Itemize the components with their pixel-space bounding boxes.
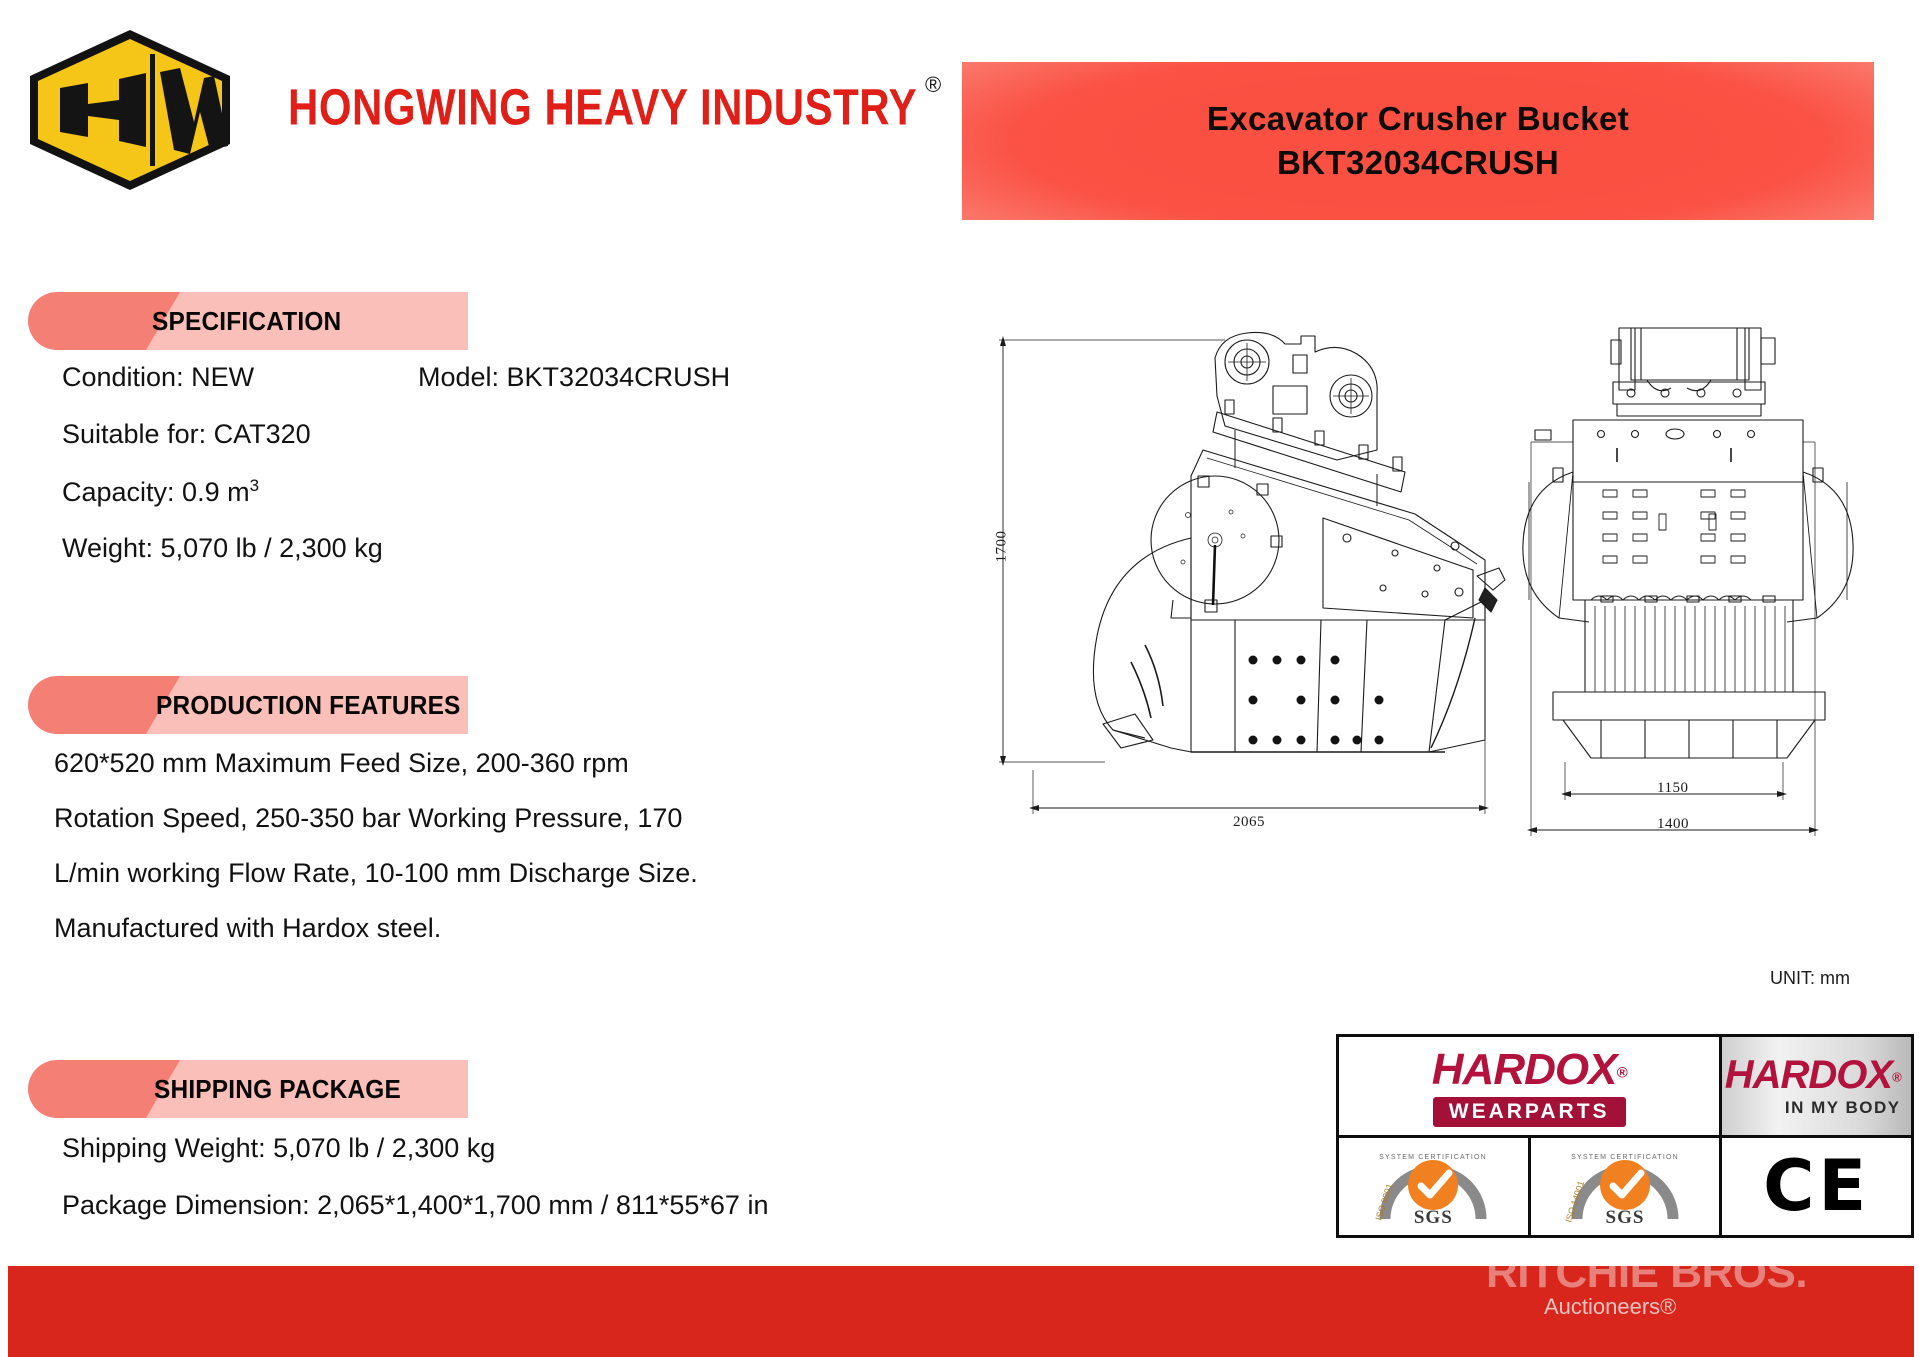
sgs-label: SGS [1557, 1207, 1693, 1229]
hardox-in-my-body-subtitle: IN MY BODY [1785, 1098, 1901, 1118]
section-title-shipping-package: SHIPPING PACKAGE [154, 1074, 401, 1105]
hardox-registered-icon: ® [1616, 1064, 1626, 1081]
dimension-width-2065: 2065 [1233, 814, 1265, 831]
section-tab-specification: SPECIFICATION [28, 292, 468, 350]
sgs-iso14001-badge: SYSTEM CERTIFICATION ISO 14001 SGS [1531, 1138, 1720, 1236]
hardox-wordmark: HARDOX [1432, 1045, 1617, 1094]
product-title-banner: Excavator Crusher Bucket BKT32034CRUSH [962, 62, 1874, 220]
dimension-outer-width-1400: 1400 [1657, 816, 1689, 833]
feature-line-1: 620*520 mm Maximum Feed Size, 200-360 rp… [54, 748, 629, 779]
ce-mark-glyph: CE [1763, 1151, 1870, 1221]
hardox-registered-icon: ® [1892, 1070, 1901, 1085]
spec-capacity-text: Capacity: 0.9 m [62, 477, 250, 507]
footer-bar [8, 1266, 1914, 1357]
spec-weight: Weight: 5,070 lb / 2,300 kg [62, 533, 383, 564]
section-tab-production-features: PRODUCTION FEATURES [28, 676, 468, 734]
feature-line-2: Rotation Speed, 250-350 bar Working Pres… [54, 803, 682, 834]
spec-condition: Condition: NEW [62, 362, 254, 393]
hardox-wearparts-subtitle: WEARPARTS [1433, 1097, 1626, 1127]
registered-trademark-icon: ® [925, 72, 941, 98]
spec-model: Model: BKT32034CRUSH [418, 362, 730, 393]
side-view-drawing [985, 300, 1545, 920]
dimension-height-1700: 1700 [994, 522, 1011, 572]
unit-note: UNIT: mm [1770, 968, 1850, 989]
ce-mark-badge: CE [1722, 1138, 1911, 1236]
spec-capacity: Capacity: 0.9 m3 [62, 476, 259, 508]
hardox-in-my-body-badge: HARDOX® IN MY BODY [1722, 1037, 1911, 1135]
front-view-drawing [1505, 300, 1875, 920]
company-name: HONGWING HEAVY INDUSTRY [288, 78, 917, 137]
technical-drawings: 1700 2065 [985, 300, 1885, 960]
section-title-specification: SPECIFICATION [152, 306, 341, 337]
brand-header: HONGWING HEAVY INDUSTRY ® Excavator Crus… [0, 0, 1919, 230]
sgs-label: SGS [1365, 1207, 1501, 1229]
hardox-wordmark: HARDOX [1725, 1053, 1892, 1097]
spec-capacity-exponent: 3 [250, 476, 259, 495]
product-model-code: BKT32034CRUSH [1277, 144, 1559, 182]
feature-line-3: L/min working Flow Rate, 10-100 mm Disch… [54, 858, 698, 889]
section-title-production-features: PRODUCTION FEATURES [156, 690, 461, 721]
company-logo-icon [24, 26, 236, 194]
sgs-iso9001-badge: SYSTEM CERTIFICATION ISO 9001 SGS [1339, 1138, 1528, 1236]
hardox-wearparts-badge: HARDOX® WEARPARTS [1339, 1037, 1719, 1135]
shipping-weight: Shipping Weight: 5,070 lb / 2,300 kg [62, 1133, 495, 1164]
spec-suitable-for: Suitable for: CAT320 [62, 419, 311, 450]
package-dimension: Package Dimension: 2,065*1,400*1,700 mm … [62, 1190, 768, 1221]
section-tab-shipping-package: SHIPPING PACKAGE [28, 1060, 468, 1118]
product-name: Excavator Crusher Bucket [1207, 100, 1629, 138]
sgs-arc-text: SYSTEM CERTIFICATION [1379, 1154, 1487, 1161]
dimension-inner-width-1150: 1150 [1657, 780, 1688, 797]
sgs-arc-text: SYSTEM CERTIFICATION [1571, 1154, 1679, 1161]
feature-line-4: Manufactured with Hardox steel. [54, 913, 441, 944]
certification-badges: HARDOX® WEARPARTS HARDOX® IN MY BODY SYS… [1336, 1034, 1914, 1238]
